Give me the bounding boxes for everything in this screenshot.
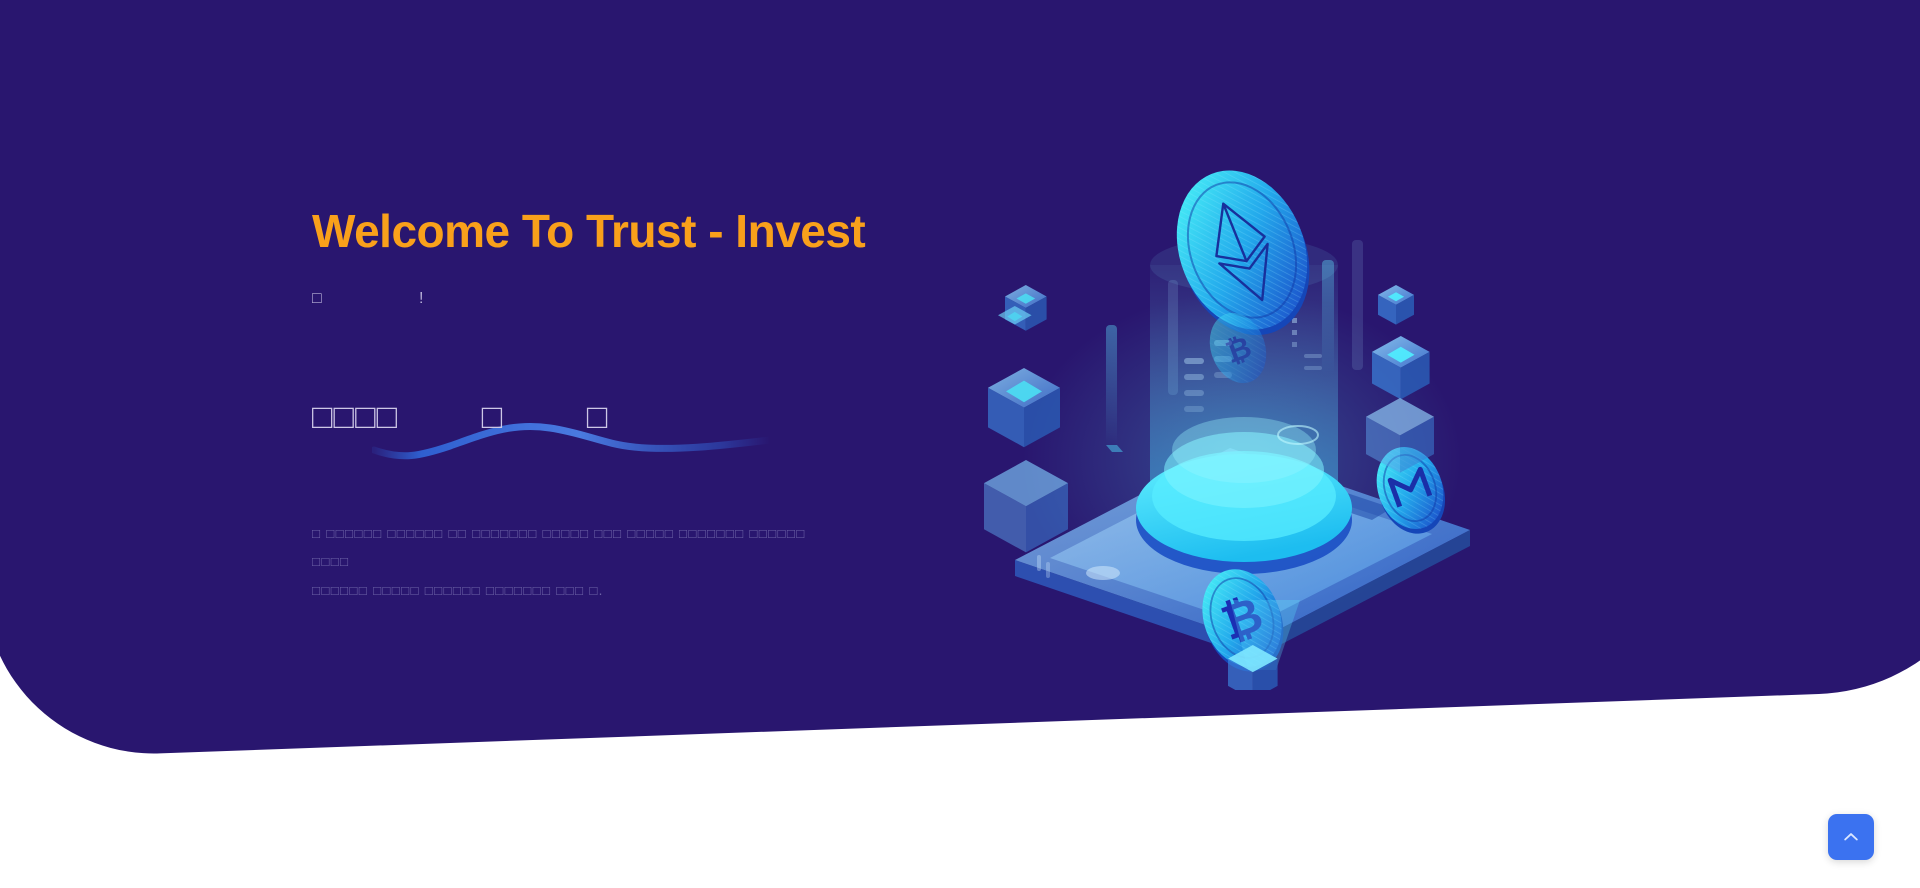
hero-page: Welcome To Trust - Invest □ ! □□□□ — [0, 0, 1920, 888]
section-heading: □□□□ □ □ — [312, 390, 1012, 434]
hero-content: Welcome To Trust - Invest □ ! □□□□ — [312, 205, 1012, 605]
page-title: Welcome To Trust - Invest — [312, 205, 1012, 258]
phone-home-button — [1086, 566, 1120, 580]
hero-subtitle: □ ! — [312, 290, 1012, 308]
section-heading-wrap: □□□□ □ □ — [312, 390, 1012, 460]
blockchain-cubes-right — [1366, 285, 1434, 473]
isometric-crypto-illustration: ₿ ₿ — [980, 130, 1500, 690]
hero-paragraph: □ □□□□□□ □□□□□□ □□ □□□□□□□ □□□□□ □□□ □□□… — [312, 520, 832, 605]
scroll-to-top-button[interactable] — [1828, 814, 1874, 860]
chevron-up-icon — [1841, 827, 1861, 847]
